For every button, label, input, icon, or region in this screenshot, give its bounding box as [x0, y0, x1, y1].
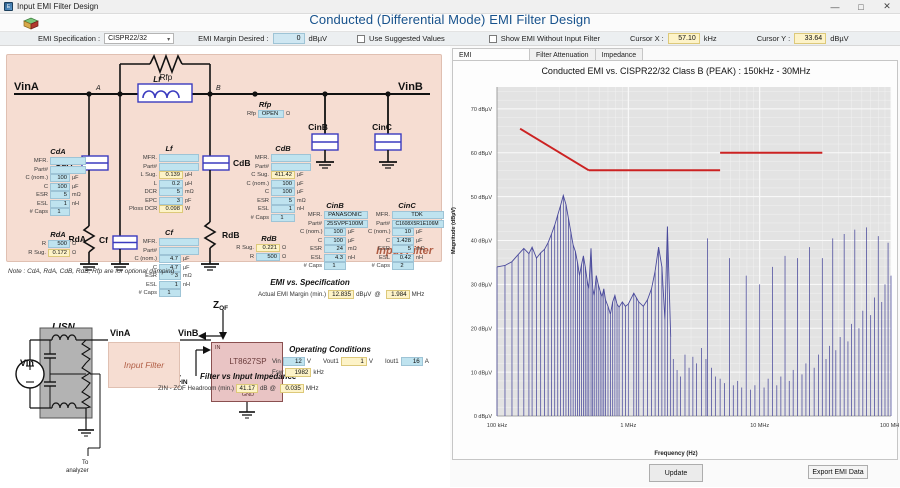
vout1-unit: V	[369, 358, 373, 365]
param-value[interactable]: 0.2	[159, 180, 183, 188]
y-tick-label: 10 dBµV	[471, 370, 493, 376]
param-value[interactable]: 1	[271, 214, 295, 222]
param-value[interactable]	[159, 247, 199, 255]
cursor-y-label: Cursor Y :	[757, 34, 791, 43]
param-label: C (nom.)	[368, 229, 392, 235]
param-label: L Sug.	[129, 172, 159, 178]
cf-table-title: Cf	[129, 228, 209, 237]
emi-margin-readout-label: Actual EMI Margin (min.)	[258, 291, 326, 298]
param-unit: µF	[414, 229, 423, 235]
param-unit: µF	[181, 256, 190, 262]
param-value[interactable]: 100	[50, 183, 70, 191]
param-label: C	[22, 184, 50, 190]
param-value[interactable]: 4.3	[324, 254, 346, 262]
param-label: L	[129, 181, 159, 187]
param-label: ESR	[243, 198, 271, 204]
param-value[interactable]: 1	[50, 200, 70, 208]
cinc-table-title: CinC	[368, 201, 446, 210]
y-tick-label: 70 dBµV	[471, 107, 493, 113]
vout1-label: Vout1	[323, 358, 339, 365]
component-table-rdb: RdB R Sug.0.221Ω R500Ω	[228, 234, 310, 261]
param-label: R	[228, 254, 256, 260]
param-value[interactable]: 100	[271, 188, 295, 196]
param-value[interactable]: 4.7	[159, 255, 181, 263]
y-tick-label: 30 dBµV	[471, 283, 493, 289]
vinb-label: VinB	[398, 81, 423, 93]
param-label: ESR	[368, 246, 392, 252]
param-label: C (nom.)	[300, 229, 324, 235]
chevron-down-icon: ▾	[167, 36, 170, 43]
param-value[interactable]	[50, 166, 86, 174]
fsw-value[interactable]: 1982	[285, 368, 311, 377]
param-label: ESR	[22, 192, 50, 198]
chart-title: Conducted EMI vs. CISPR22/32 Class B (PE…	[453, 66, 899, 76]
fsw-label: Fsw	[272, 369, 283, 376]
param-unit: µF	[70, 184, 79, 190]
param-label: Ploss DCR	[129, 206, 159, 212]
rfp-symbol-label: Rfp	[160, 73, 173, 82]
application-window: E Input EMI Filter Design — □ ✕ Conducte…	[0, 0, 900, 487]
rfp-value[interactable]: OPEN	[258, 110, 284, 118]
emi-margin-input[interactable]: 0	[273, 33, 305, 44]
operating-conditions-title: Operating Conditions	[289, 345, 371, 354]
cursor-y-unit: dBµV	[830, 34, 849, 43]
checkbox-icon	[357, 35, 365, 43]
component-table-cinb: CinB MFR.PANASONIC Part#25SVPF100M C (no…	[300, 201, 370, 271]
param-unit: pF	[183, 198, 191, 204]
design-panel: Input Filter	[0, 46, 450, 487]
param-value[interactable]: TDK	[392, 211, 444, 219]
fsw-unit: kHz	[313, 369, 324, 376]
param-label: R	[22, 241, 48, 247]
use-suggested-values-label: Use Suggested Values	[369, 34, 445, 43]
operating-conditions-row2: Fsw 1982 kHz	[272, 368, 324, 377]
param-label: MFR.	[22, 158, 50, 164]
component-table-rda: RdA R500Ω R Sug.0.172Ω	[22, 230, 94, 257]
param-value[interactable]: 100	[50, 174, 70, 182]
to-analyzer-line1: To	[82, 460, 89, 466]
vin-source-label: Vin	[20, 358, 34, 368]
param-label: Part#	[300, 221, 324, 227]
tab-emi-label: EMI	[459, 52, 471, 59]
damping-note: Note : CdA, RdA, CdB, RdB, Rfp are for o…	[8, 268, 174, 275]
param-unit: µF	[346, 238, 355, 244]
param-label: ESL	[300, 255, 324, 261]
param-value[interactable]: 411.42	[271, 171, 295, 179]
y-tick-label: 0 dBµV	[474, 414, 492, 420]
rdb-table-title: RdB	[228, 234, 310, 243]
options-toolbar: EMI Specification : CISPR22/32 ▾ EMI Mar…	[0, 31, 900, 46]
param-unit: mΩ	[346, 246, 357, 252]
emi-spec-label: EMI Specification :	[38, 34, 100, 43]
param-value[interactable]	[159, 163, 199, 171]
param-label: C	[300, 238, 324, 244]
checkbox-icon	[489, 35, 497, 43]
window-title: Input EMI Filter Design	[17, 2, 98, 11]
param-unit: Ω	[70, 241, 76, 247]
emi-tab-panel: Conducted EMI vs. CISPR22/32 Class B (PE…	[452, 60, 898, 460]
param-unit: W	[183, 206, 190, 212]
cinb-table-title: CinB	[300, 201, 370, 210]
param-unit: Ω	[280, 254, 286, 260]
param-label: ESL	[243, 206, 271, 212]
param-value[interactable]: 5	[271, 197, 295, 205]
param-label: Part#	[129, 164, 159, 170]
y-tick-label: 40 dBµV	[471, 239, 493, 245]
rfp-readout-group: Rfp Rfp OPEN Ω	[240, 100, 290, 119]
input-filter-block[interactable]: Input Filter	[108, 342, 180, 388]
param-value[interactable]: 0.172	[48, 249, 70, 257]
param-label: ESL	[368, 255, 392, 261]
param-label: MFR.	[243, 155, 271, 161]
param-value[interactable]: 5	[50, 191, 70, 199]
param-label: Part#	[129, 248, 159, 254]
cursor-y-value[interactable]: 33.64	[794, 33, 826, 44]
cinb-symbol-label: CinB	[308, 122, 328, 132]
param-value[interactable]	[271, 163, 311, 171]
cda-table-title: CdA	[22, 147, 94, 156]
headroom-freq-value: 0.035	[280, 384, 304, 393]
vin-value[interactable]: 12	[283, 357, 305, 366]
param-label: C Sug.	[243, 172, 271, 178]
vina-system-label: VinA	[110, 328, 131, 338]
emi-margin-freq-unit: MHz	[412, 291, 425, 298]
param-unit: µF	[295, 189, 304, 195]
param-label: ESR	[300, 246, 324, 252]
param-value[interactable]: 500	[256, 253, 280, 261]
at-symbol: @	[270, 385, 276, 392]
param-label: C (nom.)	[22, 175, 50, 181]
results-panel: EMI Filter Attenuation Impedance Conduct…	[450, 46, 900, 487]
x-tick-label: 1 MHz	[620, 423, 636, 429]
filter-vs-input-readout: ZIN - ZOF Headroom (min.) 41.17 dB @ 0.0…	[158, 384, 319, 393]
param-value[interactable]: 100	[324, 228, 346, 236]
param-value[interactable]: 5	[159, 188, 183, 196]
param-value[interactable]	[159, 154, 199, 162]
y-tick-label: 50 dBµV	[471, 195, 493, 201]
param-value[interactable]: 24	[324, 245, 346, 253]
param-unit: mΩ	[414, 246, 425, 252]
param-value[interactable]	[271, 154, 311, 162]
param-label: C (nom.)	[243, 181, 271, 187]
node-a-label: A	[95, 85, 101, 92]
param-label: C (nom.)	[129, 256, 159, 262]
vout1-value[interactable]: 1	[341, 357, 367, 366]
rfp-label: Rfp	[240, 111, 258, 117]
param-label: C	[368, 238, 392, 244]
cdb-table-title: CdB	[243, 144, 323, 153]
iout1-unit: A	[425, 358, 429, 365]
page-title: Conducted (Differential Mode) EMI Filter…	[0, 12, 900, 27]
param-unit: nH	[414, 255, 423, 261]
param-value[interactable]: 0.221	[256, 244, 280, 252]
chart-canvas[interactable]: 0 dBµV10 dBµV20 dBµV30 dBµV40 dBµV50 dBµ…	[453, 79, 899, 454]
emi-margin-unit: dBµV	[309, 34, 328, 43]
iout1-value[interactable]: 16	[401, 357, 423, 366]
emi-margin-label: EMI Margin Desired :	[198, 34, 268, 43]
param-label: C	[243, 189, 271, 195]
use-suggested-values-checkbox[interactable]: Use Suggested Values	[357, 34, 445, 43]
param-unit: µF	[346, 229, 355, 235]
param-value[interactable]: 1.428	[392, 237, 414, 245]
param-unit: µF	[295, 172, 304, 178]
param-value[interactable]: PANASONIC	[324, 211, 368, 219]
param-value[interactable]: 1	[324, 262, 346, 270]
update-button[interactable]: Update	[649, 464, 703, 482]
cursor-x-label: Cursor X :	[630, 34, 664, 43]
y-tick-label: 60 dBµV	[471, 151, 493, 157]
emi-margin-readout-unit: dBµV	[356, 291, 371, 298]
param-unit: Ω	[280, 245, 286, 251]
headroom-unit: dB	[260, 385, 268, 392]
iout1-label: Iout1	[385, 358, 399, 365]
param-label: MFR.	[129, 239, 159, 245]
param-label: R Sug.	[22, 250, 48, 256]
show-emi-without-filter-checkbox[interactable]: Show EMI Without Input Filter	[489, 34, 600, 43]
param-unit: µF	[181, 265, 190, 271]
param-value[interactable]: 0.139	[159, 171, 183, 179]
param-value[interactable]: 0.42	[392, 254, 414, 262]
param-value[interactable]	[50, 157, 86, 165]
emi-spec-select[interactable]: CISPR22/32 ▾	[104, 33, 174, 44]
rda-table-title: RdA	[22, 230, 94, 239]
param-label: Part#	[368, 221, 392, 227]
param-value[interactable]: 1	[50, 208, 70, 216]
emi-spec-value: CISPR22/32	[108, 35, 147, 42]
emi-chart[interactable]: Magnitude (dBµV) Frequency (Hz) 0 dBµV10…	[453, 79, 899, 459]
param-label: MFR.	[368, 212, 392, 218]
tab-filter-attenuation-label: Filter Attenuation	[536, 52, 589, 59]
param-value[interactable]: 1	[271, 205, 295, 213]
component-table-cinc: CinC MFR.TDK Part#C1608X5R1E106M C (nom.…	[368, 201, 446, 271]
chart-xlabel: Frequency (Hz)	[453, 451, 899, 457]
cursor-x-unit: kHz	[704, 34, 717, 43]
to-analyzer-line2: analyzer	[66, 468, 89, 474]
export-emi-data-button[interactable]: Export EMI Data	[808, 465, 868, 479]
tab-impedance-label: Impedance	[602, 52, 637, 59]
show-emi-without-filter-label: Show EMI Without Input Filter	[501, 34, 600, 43]
cinc-symbol-label: CinC	[372, 122, 392, 132]
component-table-lf: Lf MFR. Part# L Sug.0.139µH L0.2µH DCR5m…	[129, 144, 209, 214]
param-label: MFR.	[129, 155, 159, 161]
param-unit: nH	[346, 255, 355, 261]
node-b-label: B	[216, 85, 221, 92]
param-unit: µH	[183, 172, 192, 178]
param-label: Part#	[22, 167, 50, 173]
param-value[interactable]: 100	[271, 180, 295, 188]
component-table-cda: CdA MFR. Part# C (nom.)100µF C100µF ESR5…	[22, 147, 94, 217]
param-value[interactable]: 2	[392, 262, 414, 270]
headroom-freq-unit: MHz	[306, 385, 319, 392]
param-value[interactable]	[159, 238, 199, 246]
param-label: EPC	[129, 198, 159, 204]
param-unit: Ω	[70, 250, 76, 256]
ic-in-pin-label: IN	[215, 345, 221, 351]
param-label: DCR	[129, 189, 159, 195]
rfp-title: Rfp	[240, 100, 290, 109]
param-value[interactable]: 0.098	[159, 205, 183, 213]
y-tick-label: 20 dBµV	[471, 326, 493, 332]
emi-vs-spec-readout: Actual EMI Margin (min.) 12.835 dBµV @ 1…	[258, 290, 424, 299]
param-unit: mΩ	[183, 189, 194, 195]
zof-label: ZOF	[213, 300, 228, 312]
param-value[interactable]: 3	[159, 197, 183, 205]
param-value[interactable]: 5	[392, 245, 414, 253]
param-value[interactable]: 10	[392, 228, 414, 236]
cursor-x-value[interactable]: 57.10	[668, 33, 700, 44]
vinb-system-label: VinB	[178, 328, 199, 338]
param-label: Part#	[243, 164, 271, 170]
vin-label: Vin	[272, 358, 281, 365]
headroom-label: ZIN - ZOF Headroom (min.)	[158, 385, 234, 392]
param-unit: nH	[70, 201, 79, 207]
param-label: # Caps	[368, 263, 392, 269]
lf-table-title: Lf	[129, 144, 209, 153]
headroom-value: 41.17	[236, 384, 258, 393]
param-unit: µF	[414, 238, 423, 244]
param-value[interactable]: 500	[48, 240, 70, 248]
param-unit: µH	[183, 181, 192, 187]
cf-symbol-label: Cf	[99, 235, 108, 245]
param-label: ESL	[22, 201, 50, 207]
operating-conditions-row1: Vin 12 V Vout1 1 V Iout1 16 A	[272, 357, 429, 366]
param-value[interactable]: 100	[324, 237, 346, 245]
param-label: MFR.	[300, 212, 324, 218]
chart-ylabel: Magnitude (dBµV)	[451, 207, 457, 254]
emi-margin-readout-value: 12.835	[328, 290, 354, 299]
x-tick-label: 10 MHz	[750, 423, 769, 429]
param-unit: mΩ	[70, 192, 81, 198]
x-tick-label: 100 kHz	[487, 423, 507, 429]
x-tick-label: 100 MHz	[880, 423, 899, 429]
emi-margin-freq-value: 1.984	[386, 290, 410, 299]
param-label: R Sug.	[228, 245, 256, 251]
at-symbol: @	[374, 291, 380, 298]
param-label: # Caps	[300, 263, 324, 269]
param-label: # Caps	[22, 209, 50, 215]
param-value[interactable]: 25SVPF100M	[324, 220, 368, 228]
param-unit: µF	[295, 181, 304, 187]
vina-label: VinA	[14, 81, 39, 93]
param-value[interactable]: C1608X5R1E106M	[392, 220, 444, 228]
rfp-unit: Ω	[284, 111, 290, 117]
param-unit: µF	[70, 175, 79, 181]
app-icon: E	[4, 2, 13, 11]
emi-vs-spec-title: EMI vs. Specification	[270, 278, 350, 287]
param-label: # Caps	[243, 215, 271, 221]
vin-unit: V	[307, 358, 311, 365]
